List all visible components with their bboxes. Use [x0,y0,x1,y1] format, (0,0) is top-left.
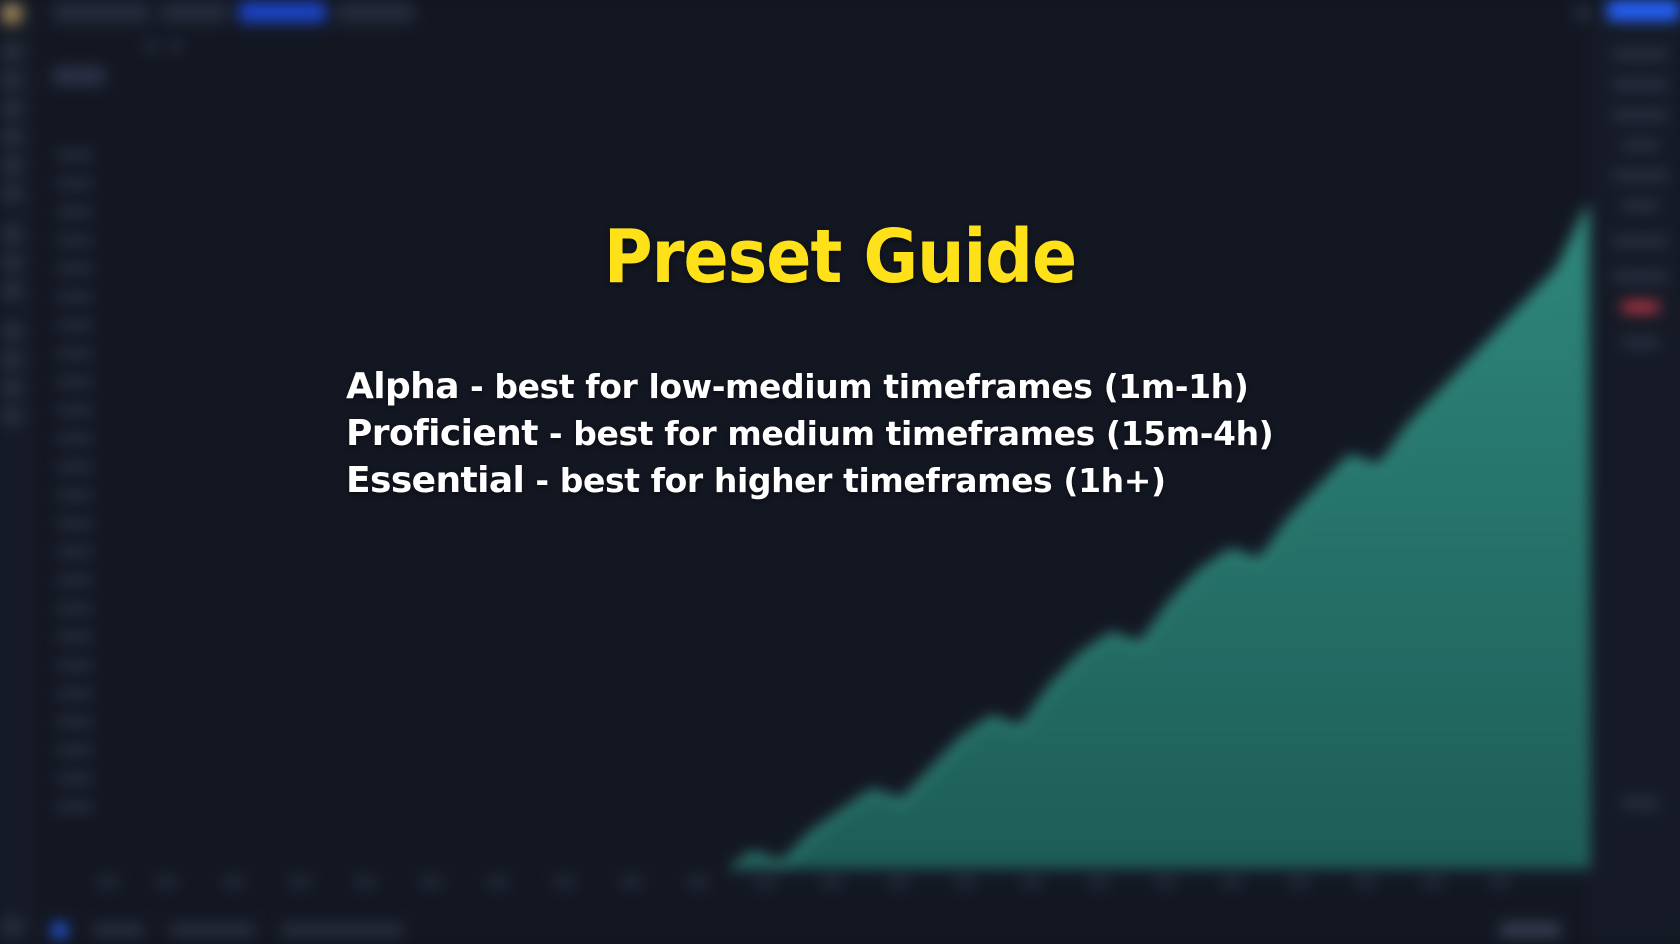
preset-name-proficient: Proficient [346,413,538,454]
preset-separator: - [459,367,494,406]
preset-item-proficient: Proficient - best for medium timeframes … [346,410,1346,457]
page-title: Preset Guide [0,214,1680,300]
preset-separator: - [524,461,559,500]
preset-desc-alpha: best for low-medium timeframes (1m-1h) [494,367,1248,406]
preset-list: Alpha - best for low-medium timeframes (… [346,363,1346,504]
preset-item-essential: Essential - best for higher timeframes (… [346,457,1346,504]
preset-name-alpha: Alpha [346,366,459,407]
preset-item-alpha: Alpha - best for low-medium timeframes (… [346,363,1346,410]
preset-desc-essential: best for higher timeframes (1h+) [560,461,1166,500]
preset-desc-proficient: best for medium timeframes (15m-4h) [573,414,1273,453]
preset-separator: - [538,414,573,453]
preset-name-essential: Essential [346,460,524,501]
preset-guide-overlay: Preset Guide Alpha - best for low-medium… [0,0,1680,944]
